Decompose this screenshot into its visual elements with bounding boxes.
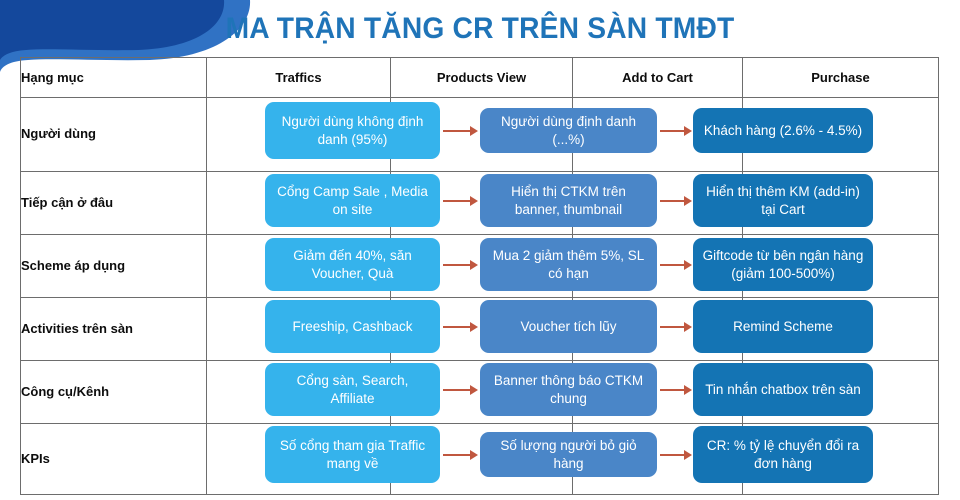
node-add-to-cart-3[interactable]: Remind Scheme xyxy=(693,300,873,353)
table-header-row: Hạng mục Traffics Products View Add to C… xyxy=(21,58,939,98)
arrow-products-view-to-cart-4 xyxy=(660,385,692,395)
node-products-view-2[interactable]: Mua 2 giảm thêm 5%, SL có hạn xyxy=(480,238,657,291)
node-traffics-0[interactable]: Người dùng không định danh (95%) xyxy=(265,102,440,159)
row-label-kpis: KPIs xyxy=(21,424,207,495)
row-label-scheme-ap-dung: Scheme áp dụng xyxy=(21,235,207,298)
column-header-add-to-cart: Add to Cart xyxy=(573,58,743,98)
arrow-traffics-to-products-view-2 xyxy=(443,260,478,270)
node-add-to-cart-5[interactable]: CR: % tỷ lệ chuyển đổi ra đơn hàng xyxy=(693,426,873,483)
node-products-view-3[interactable]: Voucher tích lũy xyxy=(480,300,657,353)
arrow-traffics-to-products-view-4 xyxy=(443,385,478,395)
arrow-traffics-to-products-view-5 xyxy=(443,450,478,460)
node-products-view-4[interactable]: Banner thông báo CTKM chung xyxy=(480,363,657,416)
arrow-products-view-to-cart-3 xyxy=(660,322,692,332)
row-label-activities-tren-san: Activities trên sàn xyxy=(21,298,207,361)
column-header-products-view: Products View xyxy=(391,58,573,98)
arrow-products-view-to-cart-5 xyxy=(660,450,692,460)
arrow-products-view-to-cart-1 xyxy=(660,196,692,206)
column-header-hang-muc: Hạng mục xyxy=(21,58,207,98)
node-traffics-4[interactable]: Cổng sàn, Search, Affiliate xyxy=(265,363,440,416)
node-add-to-cart-4[interactable]: Tin nhắn chatbox trên sàn xyxy=(693,363,873,416)
arrow-products-view-to-cart-2 xyxy=(660,260,692,270)
node-traffics-3[interactable]: Freeship, Cashback xyxy=(265,300,440,353)
node-traffics-5[interactable]: Số cổng tham gia Traffic mang về xyxy=(265,426,440,483)
node-add-to-cart-0[interactable]: Khách hàng (2.6% - 4.5%) xyxy=(693,108,873,153)
node-products-view-5[interactable]: Số lượng người bỏ giỏ hàng xyxy=(480,432,657,477)
page-title: MA TRẬN TĂNG CR TRÊN SÀN TMĐT xyxy=(29,12,931,46)
row-label-nguoi-dung: Người dùng xyxy=(21,98,207,172)
arrow-traffics-to-products-view-0 xyxy=(443,126,478,136)
node-add-to-cart-2[interactable]: Giftcode từ bên ngân hàng (giảm 100-500%… xyxy=(693,238,873,291)
node-products-view-1[interactable]: Hiển thị CTKM trên banner, thumbnail xyxy=(480,174,657,227)
arrow-traffics-to-products-view-3 xyxy=(443,322,478,332)
node-traffics-1[interactable]: Cổng Camp Sale , Media on site xyxy=(265,174,440,227)
node-traffics-2[interactable]: Giảm đến 40%, săn Voucher, Quà xyxy=(265,238,440,291)
arrow-traffics-to-products-view-1 xyxy=(443,196,478,206)
column-header-purchase: Purchase xyxy=(743,58,939,98)
arrow-products-view-to-cart-0 xyxy=(660,126,692,136)
row-label-tiep-can-o-dau: Tiếp cận ở đâu xyxy=(21,172,207,235)
column-header-traffics: Traffics xyxy=(207,58,391,98)
node-add-to-cart-1[interactable]: Hiển thị thêm KM (add-in) tại Cart xyxy=(693,174,873,227)
row-label-cong-cu-kenh: Công cụ/Kênh xyxy=(21,361,207,424)
node-products-view-0[interactable]: Người dùng định danh (...%) xyxy=(480,108,657,153)
